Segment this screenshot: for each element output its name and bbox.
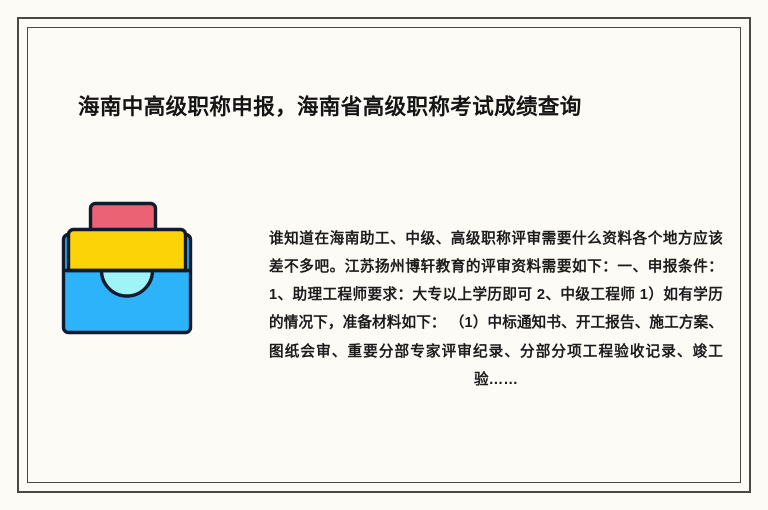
article-card: 海南中高级职称申报，海南省高级职称考试成绩查询 谁知道在海南助工、中级、高级职称… <box>0 0 768 510</box>
article-excerpt: 谁知道在海南助工、中级、高级职称评审需要什么资料各个地方应该差不多吧。江苏扬州博… <box>269 225 723 395</box>
article-thumbnail <box>57 196 197 341</box>
page-title: 海南中高级职称申报，海南省高级职称考试成绩查询 <box>78 92 690 122</box>
toolbox-briefcase-icon <box>57 196 197 341</box>
